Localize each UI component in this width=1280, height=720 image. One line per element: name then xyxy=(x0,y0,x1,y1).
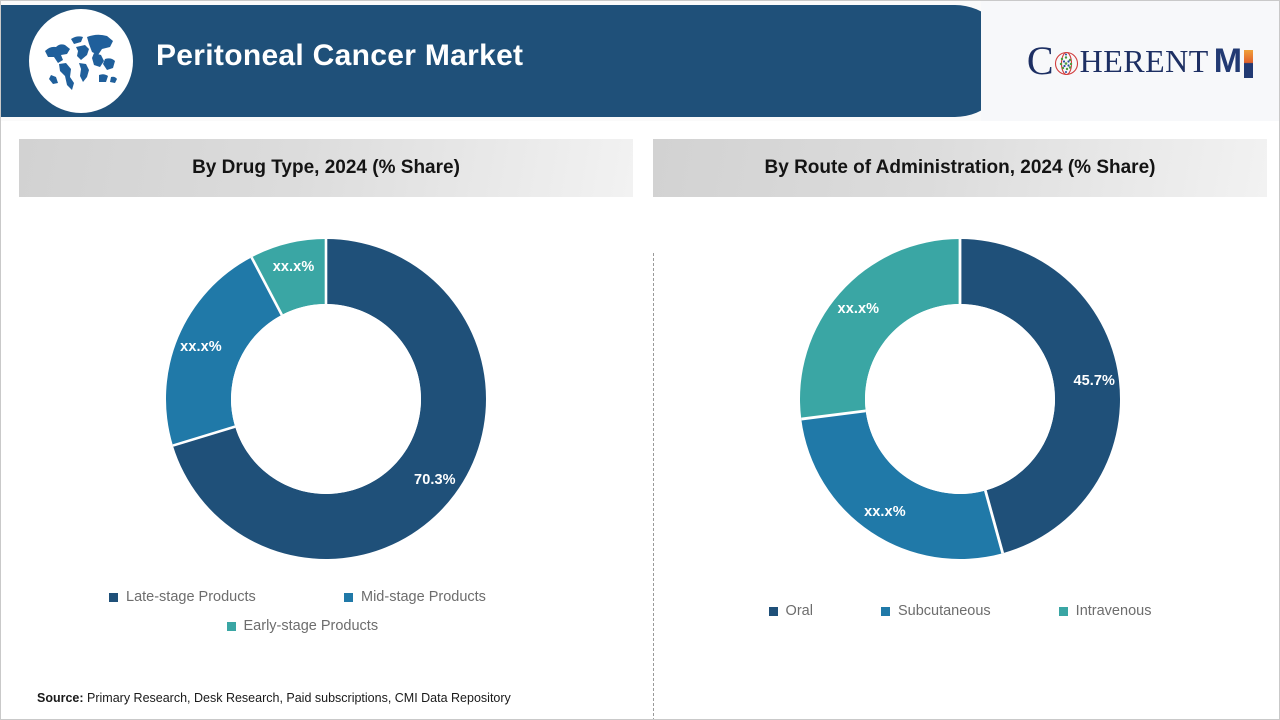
page-header: Peritoneal Cancer Market C xyxy=(1,1,1280,121)
legend-route: Oral Subcutaneous Intravenous xyxy=(653,603,1267,619)
legend-item-late-stage[interactable]: Late-stage Products xyxy=(91,589,326,605)
donut-chart-route: 45.7% xx.x% xx.x% xyxy=(653,229,1267,579)
legend-label: Subcutaneous xyxy=(898,603,991,619)
legend-label: Late-stage Products xyxy=(126,589,256,605)
panel-title-drug-type: By Drug Type, 2024 (% Share) xyxy=(19,139,633,197)
donut-label-subcutaneous: xx.x% xyxy=(864,504,906,520)
source-text: Primary Research, Desk Research, Paid su… xyxy=(84,691,511,705)
legend-item-oral[interactable]: Oral xyxy=(769,603,813,619)
panel-drug-type: By Drug Type, 2024 (% Share) xyxy=(19,121,633,681)
panel-title-route: By Route of Administration, 2024 (% Shar… xyxy=(653,139,1267,197)
legend-swatch-icon xyxy=(344,593,353,602)
legend-label: Early-stage Products xyxy=(244,618,379,634)
panel-route-of-administration: By Route of Administration, 2024 (% Shar… xyxy=(653,121,1267,681)
charts-area: By Drug Type, 2024 (% Share) xyxy=(1,121,1280,720)
legend-drug-type: Late-stage Products Mid-stage Products E… xyxy=(91,589,561,647)
legend-swatch-icon xyxy=(769,607,778,616)
logo-letter-c: C xyxy=(1027,41,1054,81)
donut-label-early-stage: xx.x% xyxy=(273,259,315,275)
brand-logo[interactable]: C xyxy=(981,1,1280,121)
panel-title-text: By Route of Administration, 2024 (% Shar… xyxy=(765,157,1156,179)
legend-swatch-icon xyxy=(1059,607,1068,616)
logo-text-herent: HERENT xyxy=(1080,45,1209,77)
logo-letter-m: M xyxy=(1214,44,1242,78)
legend-item-early-stage[interactable]: Early-stage Products xyxy=(209,618,444,634)
legend-label: Oral xyxy=(786,603,813,619)
world-globe-icon xyxy=(29,9,133,113)
legend-item-mid-stage[interactable]: Mid-stage Products xyxy=(326,589,561,605)
logo-letter-i xyxy=(1244,44,1253,78)
donut-label-late-stage: 70.3% xyxy=(414,472,456,488)
donut-label-intravenous: xx.x% xyxy=(838,301,880,317)
legend-item-intravenous[interactable]: Intravenous xyxy=(1059,603,1152,619)
donut-chart-drug-type: 70.3% xx.x% xx.x% xyxy=(19,229,633,579)
legend-swatch-icon xyxy=(227,622,236,631)
logo-globe-icon xyxy=(1054,51,1079,76)
legend-label: Intravenous xyxy=(1076,603,1152,619)
legend-swatch-icon xyxy=(109,593,118,602)
infographic-page: Peritoneal Cancer Market C xyxy=(0,0,1280,720)
panel-title-text: By Drug Type, 2024 (% Share) xyxy=(192,157,460,179)
legend-swatch-icon xyxy=(881,607,890,616)
source-note: Source: Primary Research, Desk Research,… xyxy=(37,691,511,705)
legend-item-subcutaneous[interactable]: Subcutaneous xyxy=(881,603,991,619)
donut-label-oral: 45.7% xyxy=(1073,373,1115,389)
legend-label: Mid-stage Products xyxy=(361,589,486,605)
page-title: Peritoneal Cancer Market xyxy=(156,39,523,73)
source-label: Source: xyxy=(37,691,84,705)
donut-label-mid-stage: xx.x% xyxy=(180,339,222,355)
